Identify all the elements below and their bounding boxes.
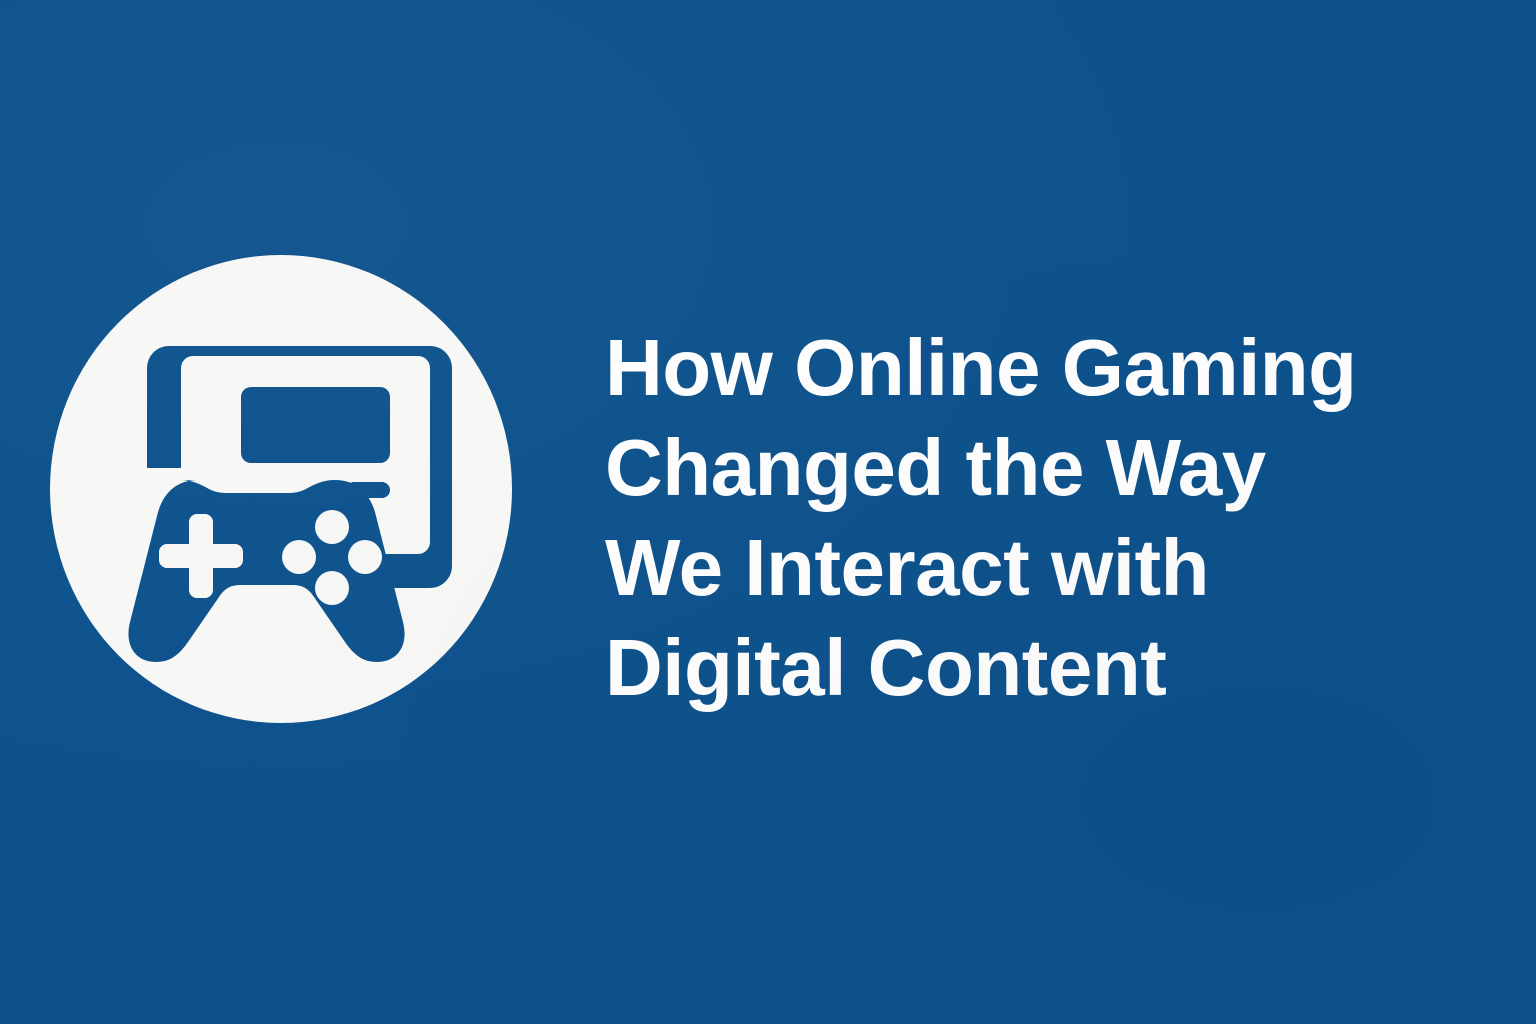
title-line-4: Digital Content — [605, 618, 1485, 718]
game-console-controller-icon — [50, 255, 512, 723]
title-card: How Online Gaming Changed the Way We Int… — [0, 0, 1536, 1024]
action-button-bottom — [315, 571, 349, 605]
title-line-1: How Online Gaming — [605, 318, 1485, 418]
action-button-left — [282, 540, 316, 574]
action-button-right — [348, 540, 382, 574]
title-line-3: We Interact with — [605, 518, 1485, 618]
action-button-top — [315, 510, 349, 544]
title-line-2: Changed the Way — [605, 418, 1485, 518]
monitor-screen-shape — [241, 387, 390, 463]
page-title: How Online Gaming Changed the Way We Int… — [605, 318, 1485, 718]
icon-badge — [50, 255, 512, 723]
